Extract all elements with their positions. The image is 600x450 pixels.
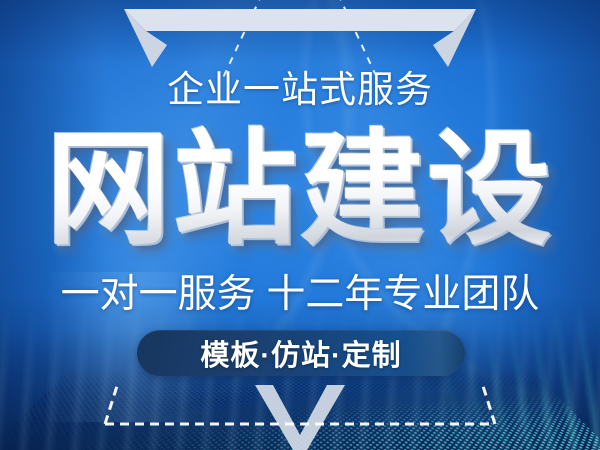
service-badge-label: 模板·仿站·定制 (137, 330, 465, 376)
top-bracket-outline (124, 9, 476, 67)
promo-poster: 企业一站式服务 网站建设 一对一服务 十二年专业团队 模板·仿站·定制 (0, 0, 600, 450)
tagline-text: 企业一站式服务 (0, 68, 600, 112)
subtitle-text: 一对一服务 十二年专业团队 (0, 272, 600, 318)
service-badge: 模板·仿站·定制 (137, 330, 465, 376)
bottom-dashed-bracket (95, 386, 505, 430)
page-title: 网站建设 (0, 124, 600, 256)
